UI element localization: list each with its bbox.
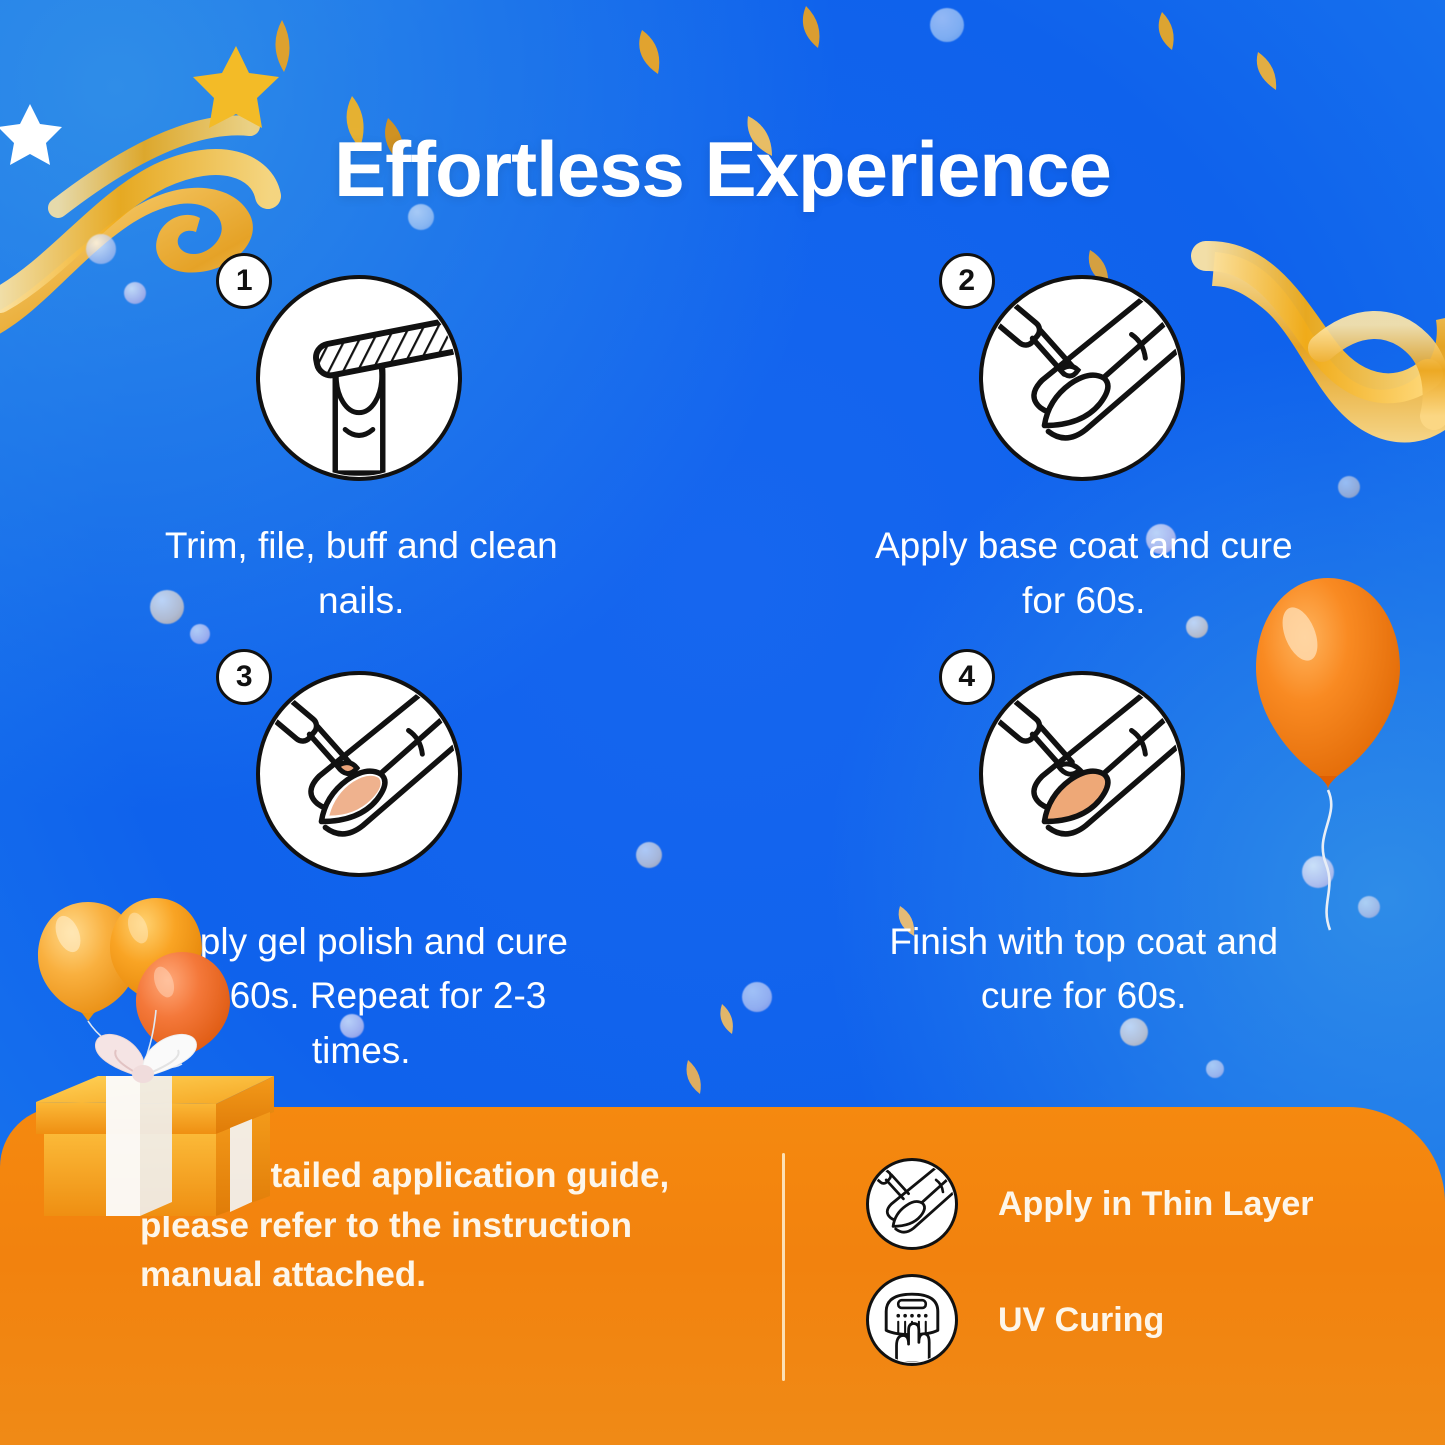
thin-layer-brush-icon [866, 1158, 958, 1250]
step-item-2: 2 [723, 275, 1445, 629]
step-number-badge: 1 [216, 253, 272, 309]
feature-item: UV Curing [866, 1271, 1313, 1369]
feature-item: Apply in Thin Layer [866, 1155, 1313, 1253]
gold-star [193, 46, 279, 128]
bokeh-dot [86, 234, 116, 264]
step-number-badge: 4 [939, 649, 995, 705]
bokeh-dot [930, 8, 964, 42]
step-item-1: 1 [0, 275, 723, 629]
application-note: *For detailed application guide, please … [140, 1151, 740, 1300]
step-item-3: 3 [0, 671, 723, 1079]
gel-polish-brush-icon [256, 671, 462, 877]
feature-label: UV Curing [998, 1301, 1164, 1340]
panel-divider [782, 1153, 785, 1381]
base-coat-brush-icon [979, 275, 1185, 481]
asterisk-marker: * [140, 1156, 154, 1195]
nail-file-icon [256, 275, 462, 481]
top-coat-brush-icon [979, 671, 1185, 877]
step-item-4: 4 [723, 671, 1445, 1079]
feature-list: Apply in Thin Layer [866, 1155, 1313, 1387]
step-caption: Finish with top coat and cure for 60s. [869, 915, 1299, 1025]
promo-graphic: Effortless Experience 1 [0, 0, 1445, 1445]
note-text: For detailed application guide, please r… [140, 1156, 669, 1294]
step-caption: Trim, file, buff and clean nails. [146, 519, 576, 629]
page-title: Effortless Experience [0, 124, 1445, 215]
step-number-badge: 3 [216, 649, 272, 705]
step-number-badge: 2 [939, 253, 995, 309]
bottom-info-panel: *For detailed application guide, please … [0, 1107, 1445, 1445]
step-caption: Apply gel polish and cure for 60s. Repea… [146, 915, 576, 1079]
uv-lamp-icon [866, 1274, 958, 1366]
steps-grid: 1 [0, 275, 1445, 1079]
feature-label: Apply in Thin Layer [998, 1185, 1313, 1224]
step-caption: Apply base coat and cure for 60s. [869, 519, 1299, 629]
